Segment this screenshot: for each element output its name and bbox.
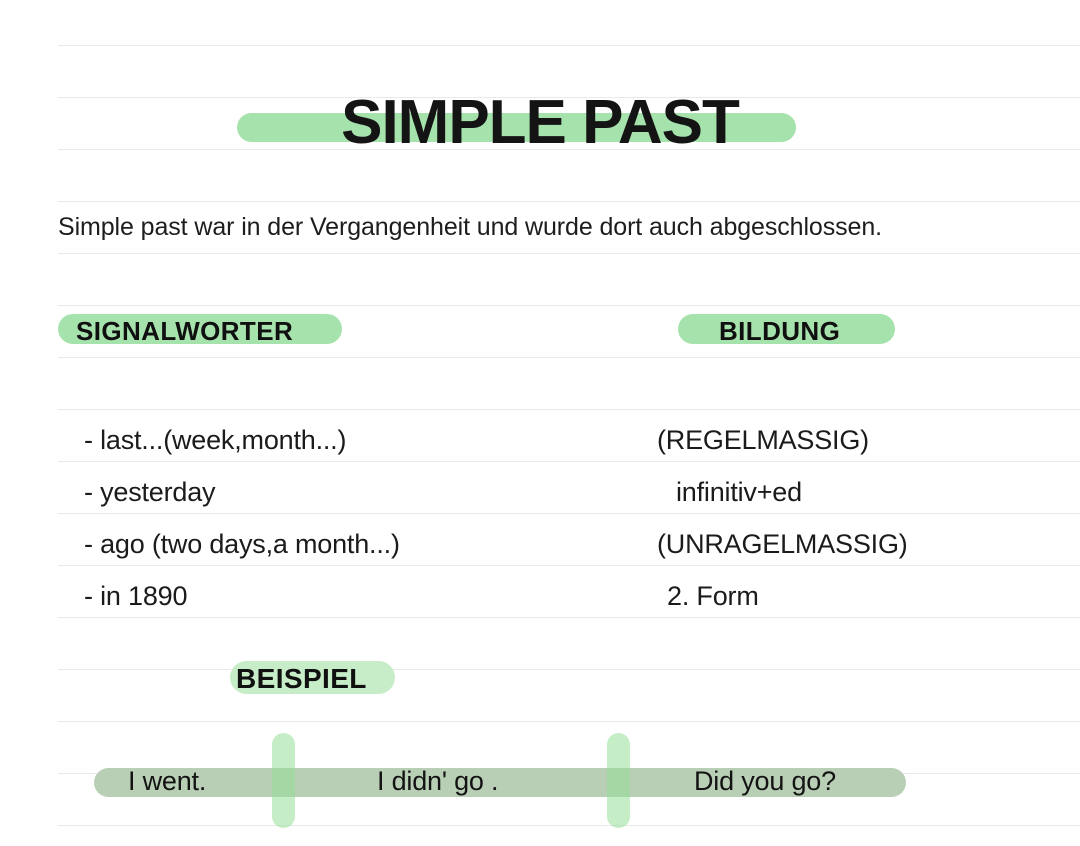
page-title: SIMPLE PAST bbox=[0, 87, 1080, 158]
rule-line bbox=[58, 669, 1080, 670]
rule-line bbox=[58, 305, 1080, 306]
rule-line bbox=[58, 253, 1080, 254]
list-item: - last...(week,month...) bbox=[84, 414, 400, 466]
list-item: (UNRAGELMASSIG) bbox=[657, 518, 908, 570]
rule-line bbox=[58, 721, 1080, 722]
example-affirmative: I went. bbox=[128, 766, 206, 797]
rule-line bbox=[58, 45, 1080, 46]
study-note-page: SIMPLE PAST Simple past war in der Verga… bbox=[0, 0, 1080, 846]
rule-line bbox=[58, 825, 1080, 826]
rule-line bbox=[58, 409, 1080, 410]
rule-line bbox=[58, 201, 1080, 202]
section-heading-bildung: BILDUNG bbox=[719, 316, 840, 347]
rule-line bbox=[58, 357, 1080, 358]
section-heading-signalworter: SIGNALWORTER bbox=[76, 316, 293, 347]
list-item: - yesterday bbox=[84, 466, 400, 518]
list-item: infinitiv+ed bbox=[657, 466, 908, 518]
list-item: 2. Form bbox=[657, 570, 908, 622]
list-item: - in 1890 bbox=[84, 570, 400, 622]
beispiel-divider-mark-2 bbox=[607, 733, 630, 828]
list-item: (REGELMASSIG) bbox=[657, 414, 908, 466]
signalworter-list: - last...(week,month...) - yesterday - a… bbox=[84, 414, 400, 622]
beispiel-divider-mark-1 bbox=[272, 733, 295, 828]
list-item: - ago (two days,a month...) bbox=[84, 518, 400, 570]
subtitle-definition: Simple past war in der Vergangenheit und… bbox=[58, 213, 1048, 242]
example-question: Did you go? bbox=[694, 766, 836, 797]
bildung-list: (REGELMASSIG) infinitiv+ed (UNRAGELMASSI… bbox=[657, 414, 908, 622]
section-heading-beispiel: BEISPIEL bbox=[236, 663, 367, 695]
example-negative: I didn' go . bbox=[377, 766, 498, 797]
